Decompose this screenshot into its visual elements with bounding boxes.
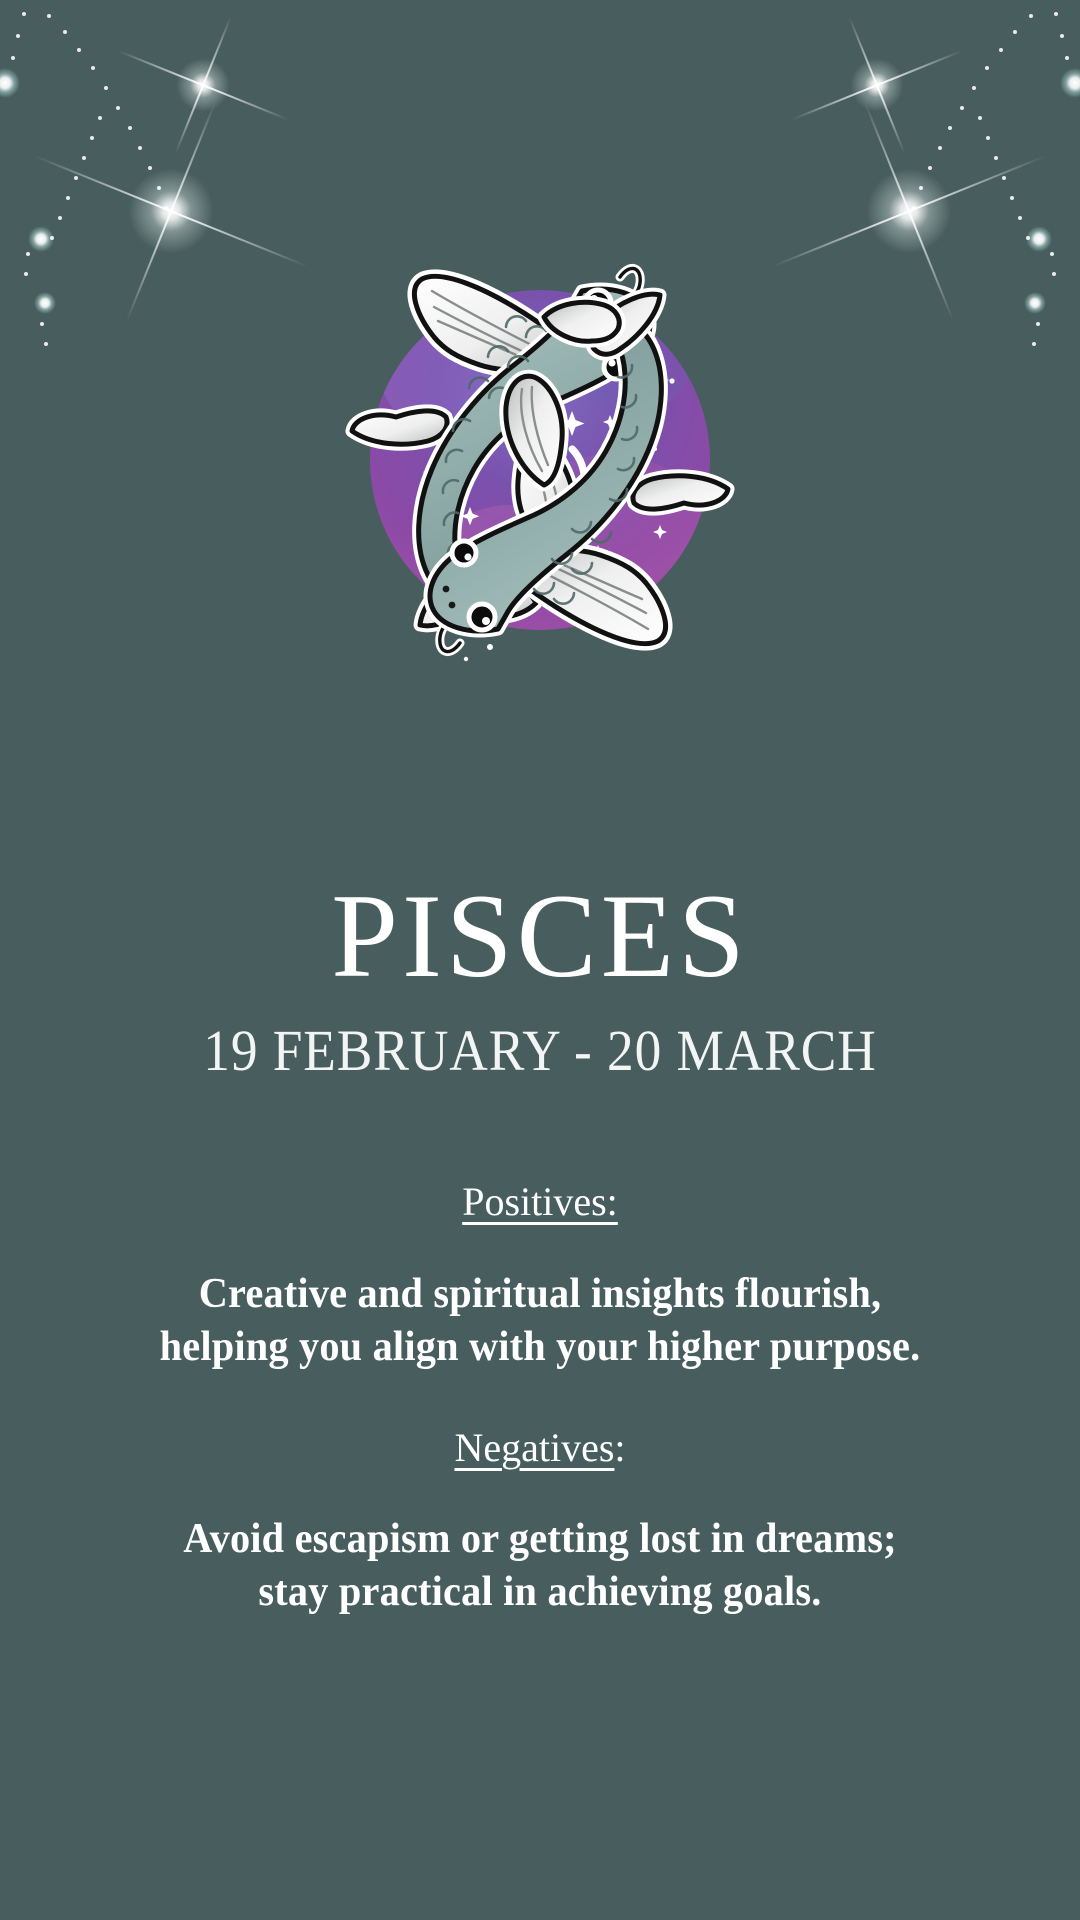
- negatives-heading-text: Negatives: [454, 1425, 614, 1470]
- top-left-sparkle-decoration: [0, 0, 290, 400]
- positives-heading: Positives:: [0, 1182, 1080, 1222]
- zodiac-date-range: 19 FEBRUARY - 20 MARCH: [43, 1022, 1037, 1080]
- positives-body: Creative and spiritual insights flourish…: [22, 1268, 1059, 1374]
- negatives-heading: Negatives:: [0, 1428, 1080, 1468]
- positives-line-1: Creative and spiritual insights flourish…: [22, 1268, 1059, 1321]
- negatives-line-1: Avoid escapism or getting lost in dreams…: [22, 1513, 1059, 1566]
- positives-heading-text: Positives:: [462, 1179, 618, 1224]
- zodiac-sign-title: PISCES: [0, 876, 1080, 996]
- negatives-line-2: stay practical in achieving goals.: [22, 1566, 1059, 1619]
- negatives-body: Avoid escapism or getting lost in dreams…: [22, 1513, 1059, 1619]
- negatives-heading-colon: :: [614, 1425, 625, 1470]
- zodiac-illustration: [310, 225, 770, 685]
- pisces-horoscope-poster: PISCES 19 FEBRUARY - 20 MARCH Positives:…: [0, 0, 1080, 1920]
- top-right-sparkle-decoration: [790, 0, 1080, 400]
- positives-line-2: helping you align with your higher purpo…: [22, 1321, 1059, 1374]
